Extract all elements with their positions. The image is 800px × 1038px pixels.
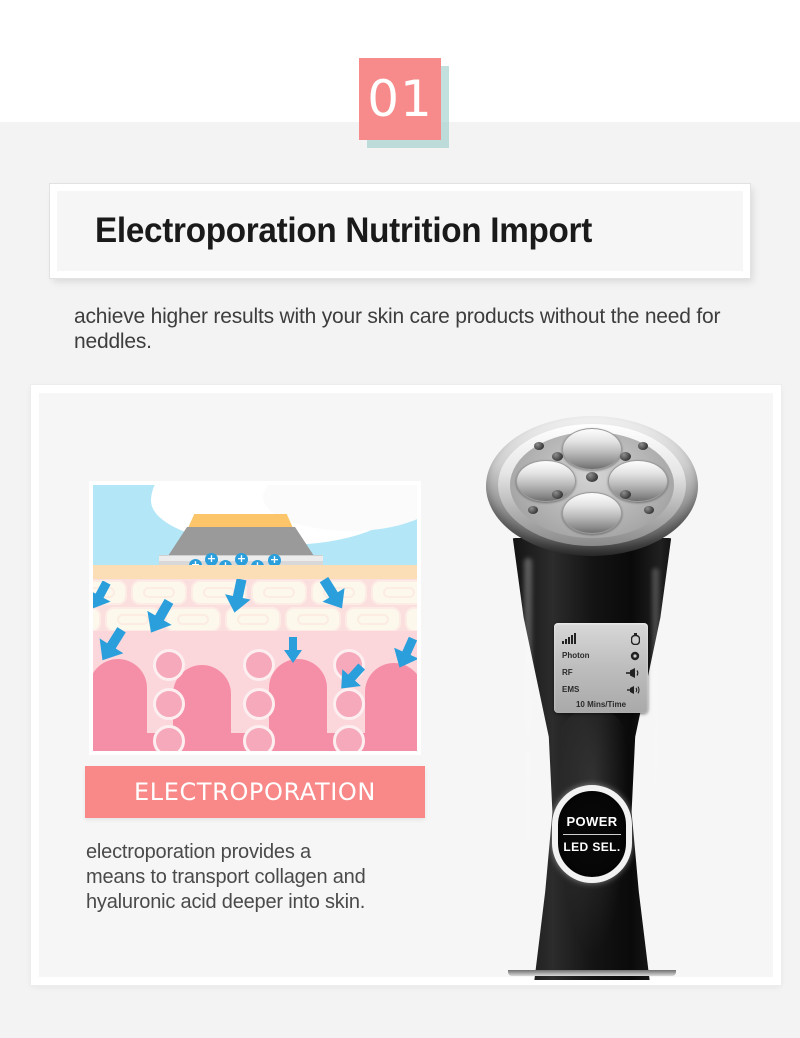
penetration-arrow xyxy=(93,581,113,611)
power-button-label: POWER xyxy=(566,814,617,829)
electrode-stud xyxy=(586,472,598,482)
panel-label-photon: Photon xyxy=(562,651,590,660)
electrode-dome xyxy=(608,460,668,502)
rf-wave-icon xyxy=(626,667,640,679)
diagram-epidermis-layer xyxy=(93,565,417,580)
collagen-circle xyxy=(333,725,365,751)
collagen-circle xyxy=(243,688,275,720)
device-control-panel[interactable]: Photon RF EMS 10 Mins/Time xyxy=(554,623,648,713)
skin-cell-inner xyxy=(357,614,389,625)
panel-row-photon: Photon xyxy=(562,647,640,664)
title-box: Electroporation Nutrition Import xyxy=(50,184,750,278)
diagram-gel-layer xyxy=(188,514,293,528)
device-left-highlight xyxy=(524,558,532,938)
electrode-stud xyxy=(552,490,563,499)
panel-row-rf: RF xyxy=(562,664,640,681)
electrode-dome xyxy=(516,460,576,502)
penetration-arrow xyxy=(319,577,347,611)
device-base-edge xyxy=(508,970,676,976)
description-line-2: means to transport collagen and xyxy=(86,865,476,890)
power-button-divider xyxy=(563,834,621,835)
penetration-arrow xyxy=(393,637,417,669)
skin-cell-inner xyxy=(263,587,295,598)
battery-icon xyxy=(626,633,640,645)
skin-cell-inner xyxy=(143,587,175,598)
ems-wave-icon xyxy=(626,684,640,696)
page-subtitle: achieve higher results with your skin ca… xyxy=(74,304,764,354)
skin-cell xyxy=(405,607,417,632)
skin-cell-inner xyxy=(297,614,329,625)
skin-cell-inner xyxy=(383,587,415,598)
signal-bars-icon xyxy=(562,633,576,644)
skin-cell-inner xyxy=(177,614,209,625)
step-number-badge: 01 xyxy=(359,58,441,140)
led-select-label: LED SEL. xyxy=(563,840,620,854)
electroporation-label: ELECTROPORATION xyxy=(134,778,376,806)
panel-label-ems: EMS xyxy=(562,685,579,694)
photon-icon xyxy=(626,650,640,662)
skin-cell-inner xyxy=(237,614,269,625)
penetration-arrow xyxy=(145,599,175,635)
power-button[interactable]: POWER LED SEL. xyxy=(552,785,632,883)
device-treatment-head xyxy=(486,416,698,568)
penetration-arrow xyxy=(283,637,303,663)
electrode-dome xyxy=(562,428,622,470)
electrode-stud xyxy=(534,442,544,450)
device-right-highlight xyxy=(652,568,659,928)
collagen-circle xyxy=(243,649,275,681)
electrode-stud xyxy=(620,452,631,461)
electrode-dome xyxy=(562,492,622,534)
diagram-papilla xyxy=(365,663,417,751)
panel-label-rf: RF xyxy=(562,668,573,677)
electrode-stud xyxy=(528,506,538,514)
description-text: electroporation provides a means to tran… xyxy=(86,840,476,915)
panel-row-signal xyxy=(562,630,640,647)
electrode-stud xyxy=(638,442,648,450)
panel-row-ems: EMS xyxy=(562,681,640,698)
penetration-arrow xyxy=(225,579,251,613)
electrode-stud xyxy=(620,490,631,499)
product-device-image: Photon RF EMS 10 Mins/Time POWER LED SEL… xyxy=(462,408,722,980)
electroporation-label-bar: ELECTROPORATION xyxy=(85,766,425,818)
skin-diagram: + + + + + + xyxy=(89,481,421,755)
page-title: Electroporation Nutrition Import xyxy=(57,211,592,251)
collagen-circle xyxy=(153,688,185,720)
penetration-arrow xyxy=(339,663,365,693)
electrode-stud xyxy=(644,506,654,514)
electrode-stud xyxy=(552,452,563,461)
collagen-circle xyxy=(153,725,185,751)
panel-timer-label: 10 Mins/Time xyxy=(562,700,640,709)
diagram-canvas: + + + + + + xyxy=(93,485,417,751)
collagen-circle xyxy=(153,649,185,681)
penetration-arrow xyxy=(97,627,127,663)
diagram-papilla xyxy=(269,659,327,751)
badge-number: 01 xyxy=(367,74,433,124)
description-line-3: hyaluronic acid deeper into skin. xyxy=(86,890,476,915)
collagen-circle xyxy=(243,725,275,751)
diagram-papilla xyxy=(93,659,147,751)
description-line-1: electroporation provides a xyxy=(86,840,476,865)
